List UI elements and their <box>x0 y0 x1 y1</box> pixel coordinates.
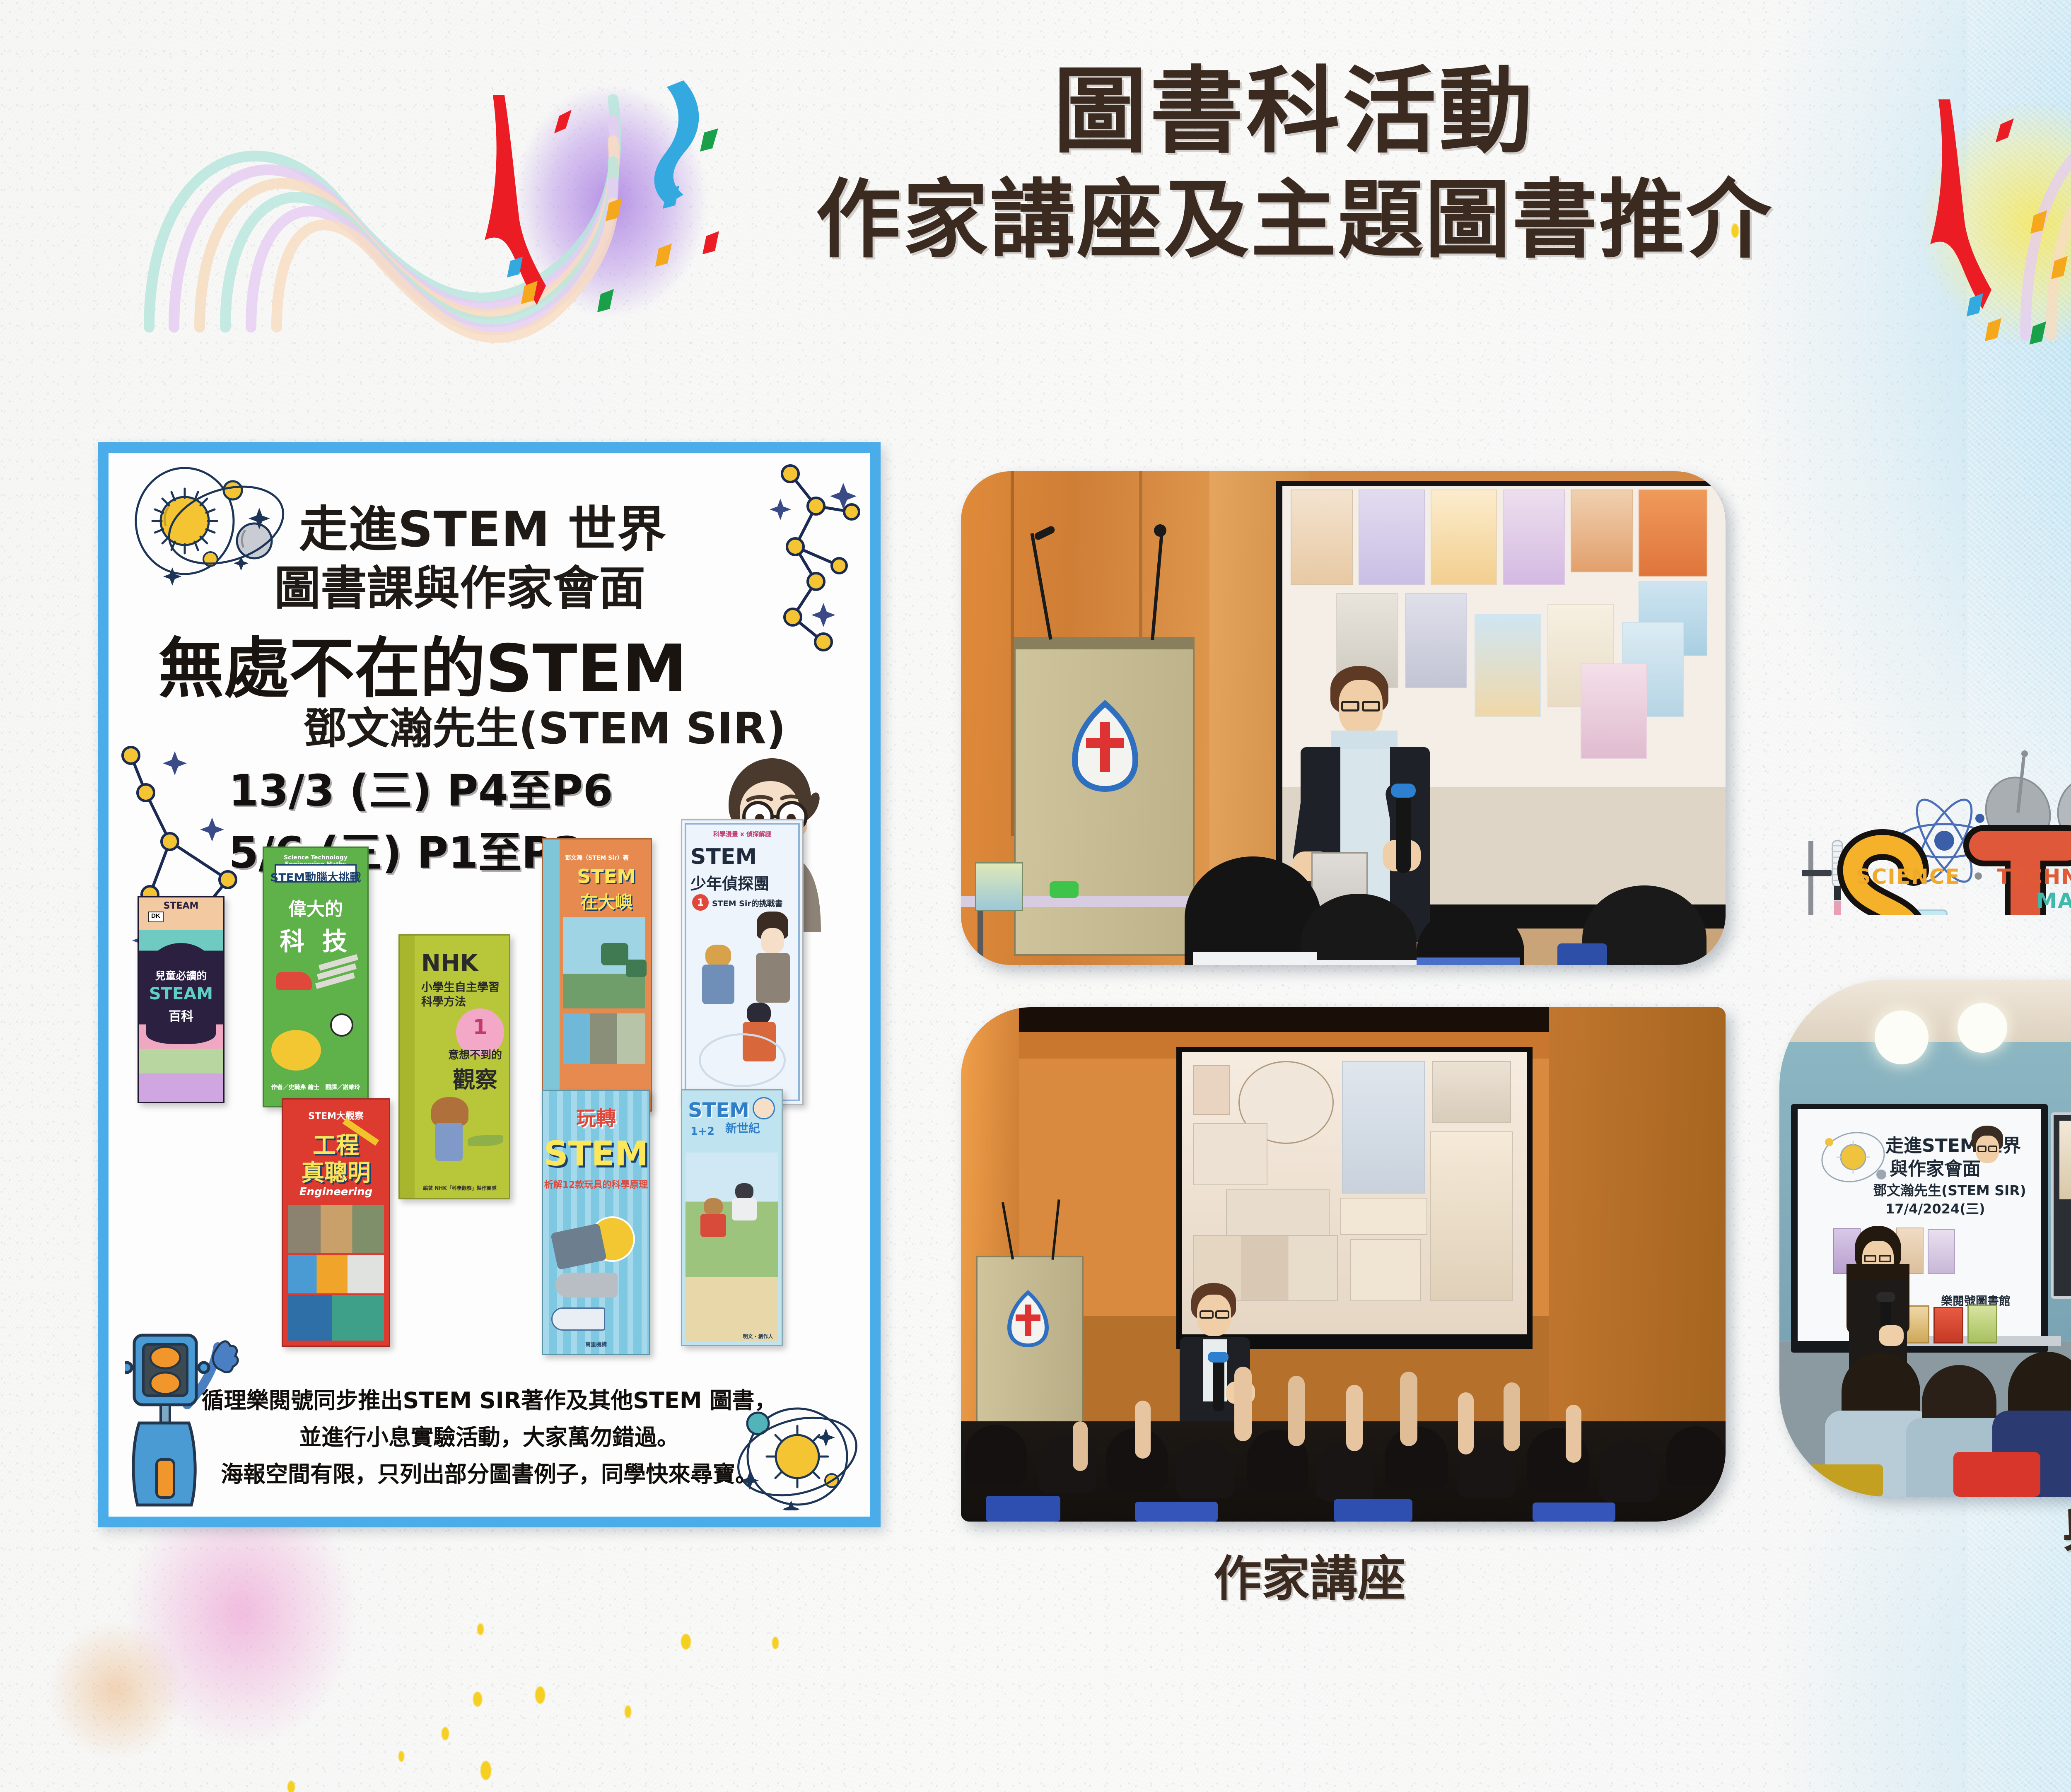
photo-author-talk-hall[interactable] <box>961 1007 1726 1522</box>
book-cover-3: NHK 小學生自主學習科學方法 1 意想不到的 觀察 編著 NHK「科學觀察」製… <box>398 934 510 1199</box>
photo-author-talk-slides[interactable] <box>961 471 1726 965</box>
caption-author-talk: 作家講座 <box>1214 1540 1406 1609</box>
slide-in-photo: 走進STEM 世界 與作家會面 鄧文瀚先生(STEM SIR) 17/4/202… <box>1804 1114 2035 1338</box>
book-cover-7: 玩轉 STEM 析解12款玩具的科學原理 萬里機構 <box>542 1090 650 1355</box>
stem-subtitle-dot-1: • <box>1972 865 1986 889</box>
poster-footer-line-3: 海報空間有限，只列出部分圖書例子，同學快來尋寶。 <box>132 1456 847 1493</box>
page-title: 圖書科活動 <box>0 62 2071 162</box>
poster-heading-1: 走進STEM 世界 <box>299 490 846 560</box>
slide-line-4: 17/4/2024(三) <box>1885 1199 2026 1218</box>
poster-heading-2: 圖書課與作家會面 <box>274 551 854 618</box>
slide-line-3: 鄧文瀚先生(STEM SIR) <box>1873 1179 2039 1199</box>
stem-subtitle-mathematics: MATHEMATICS <box>2036 889 2071 913</box>
stem-logo: SCIENCE • TECHNOLOGY • ENGINEERING • MAT… <box>1777 551 2071 915</box>
stem-event-poster[interactable]: 走進STEM 世界 圖書課與作家會面 無處不在的STEM 鄧文瀚先生(STEM … <box>98 442 881 1527</box>
poster-footer-line-1: 循理樂閱號同步推出STEM SIR著作及其他STEM 圖書， <box>132 1382 847 1419</box>
book-cover-1: STEAM 兒童必讀的 STEAM 百科 DK <box>138 896 224 1103</box>
poster-date-1: 13/3 (三) P4至P6 <box>229 755 613 818</box>
orange-watercolor-blob <box>50 1622 182 1759</box>
caption-meet-the-author: 與作家會面 <box>2063 1491 2071 1560</box>
poster-content: 走進STEM 世界 圖書課與作家會面 無處不在的STEM 鄧文瀚先生(STEM … <box>109 453 870 1517</box>
book-cover-2: Science Technology Engineering Maths STE… <box>263 847 369 1107</box>
book-cover-8: STEM 新世紀 1+2 明文 · 創作人 <box>681 1089 783 1346</box>
stem-logo-graphic <box>1777 551 2071 915</box>
photo-meet-the-author-library[interactable]: 走進STEM 世界 與作家會面 鄧文瀚先生(STEM SIR) 17/4/202… <box>1779 980 2071 1497</box>
book-cover-5: 科學漫畫 x 偵探解謎 STEM 少年偵探團 1 STEM Sir的挑戰書 <box>681 819 804 1105</box>
poster-presenter: 鄧文瀚先生(STEM SIR) <box>303 693 862 756</box>
page-header: 圖書科活動 作家講座及主題圖書推介 <box>0 62 2071 267</box>
book-cover-4: 鄧文瀚（STEM Sir）著 STEM 在大嶼 萬里機構 <box>542 838 652 1112</box>
poster-footer: 循理樂閱號同步推出STEM SIR著作及其他STEM 圖書， 並進行小息實驗活動… <box>132 1382 847 1493</box>
page-subtitle: 作家講座及主題圖書推介 <box>0 173 2071 267</box>
sun-orbit-icon <box>123 463 297 602</box>
slide-line-2: 與作家會面 <box>1890 1154 2030 1180</box>
poster-footer-line-2: 並進行小息實驗活動，大家萬勿錯過。 <box>132 1419 847 1456</box>
stem-subtitle-technology: TECHNOLOGY <box>1997 865 2071 889</box>
book-cover-6: STEM大觀察 工程 真聰明 Engineering <box>282 1098 390 1347</box>
stem-subtitle: SCIENCE • TECHNOLOGY • ENGINEERING • MAT… <box>1777 865 2071 913</box>
stem-subtitle-science: SCIENCE <box>1856 865 1960 889</box>
